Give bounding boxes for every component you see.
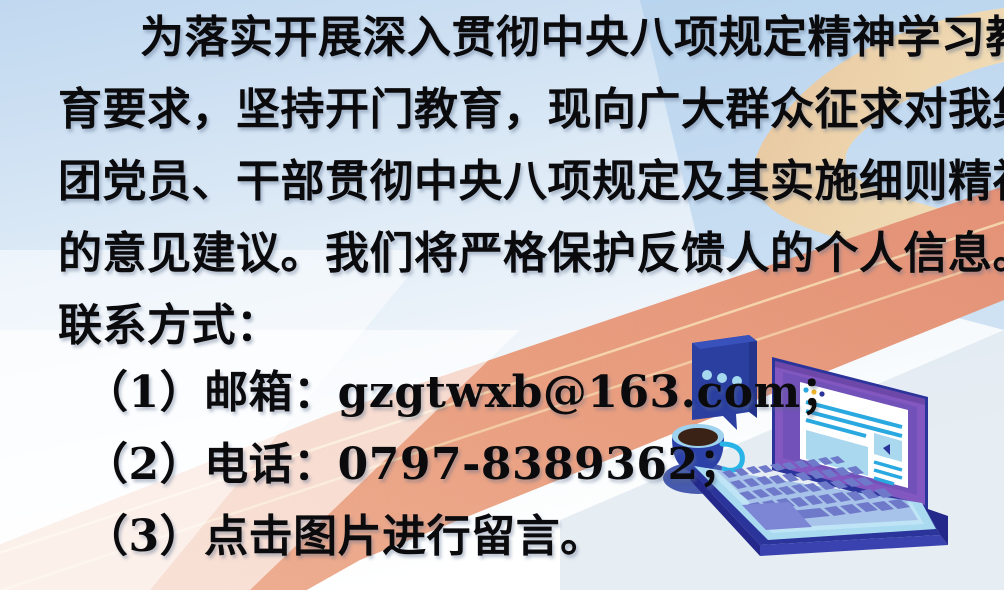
- body-line-1: 为落实开展深入贯彻中央八项规定精神学习教: [140, 16, 1004, 60]
- poster-canvas: 为落实开展深入贯彻中央八项规定精神学习教 育要求，坚持开门教育，现向广大群众征求…: [0, 0, 1004, 590]
- contact-item-email[interactable]: （1）邮箱：gzgtwxb@163.com；: [84, 371, 845, 415]
- contact-item-click-image[interactable]: （3）点击图片进行留言。: [84, 515, 605, 559]
- contact-item-phone[interactable]: （2）电话：0797-8389362；: [84, 443, 743, 487]
- body-line-2: 育要求，坚持开门教育，现向广大群众征求对我集: [58, 88, 1004, 132]
- body-line-3: 团党员、干部贯彻中央八项规定及其实施细则精神: [58, 160, 1004, 204]
- body-line-4: 的意见建议。我们将严格保护反馈人的个人信息。: [58, 232, 1004, 276]
- contact-heading: 联系方式：: [58, 304, 281, 348]
